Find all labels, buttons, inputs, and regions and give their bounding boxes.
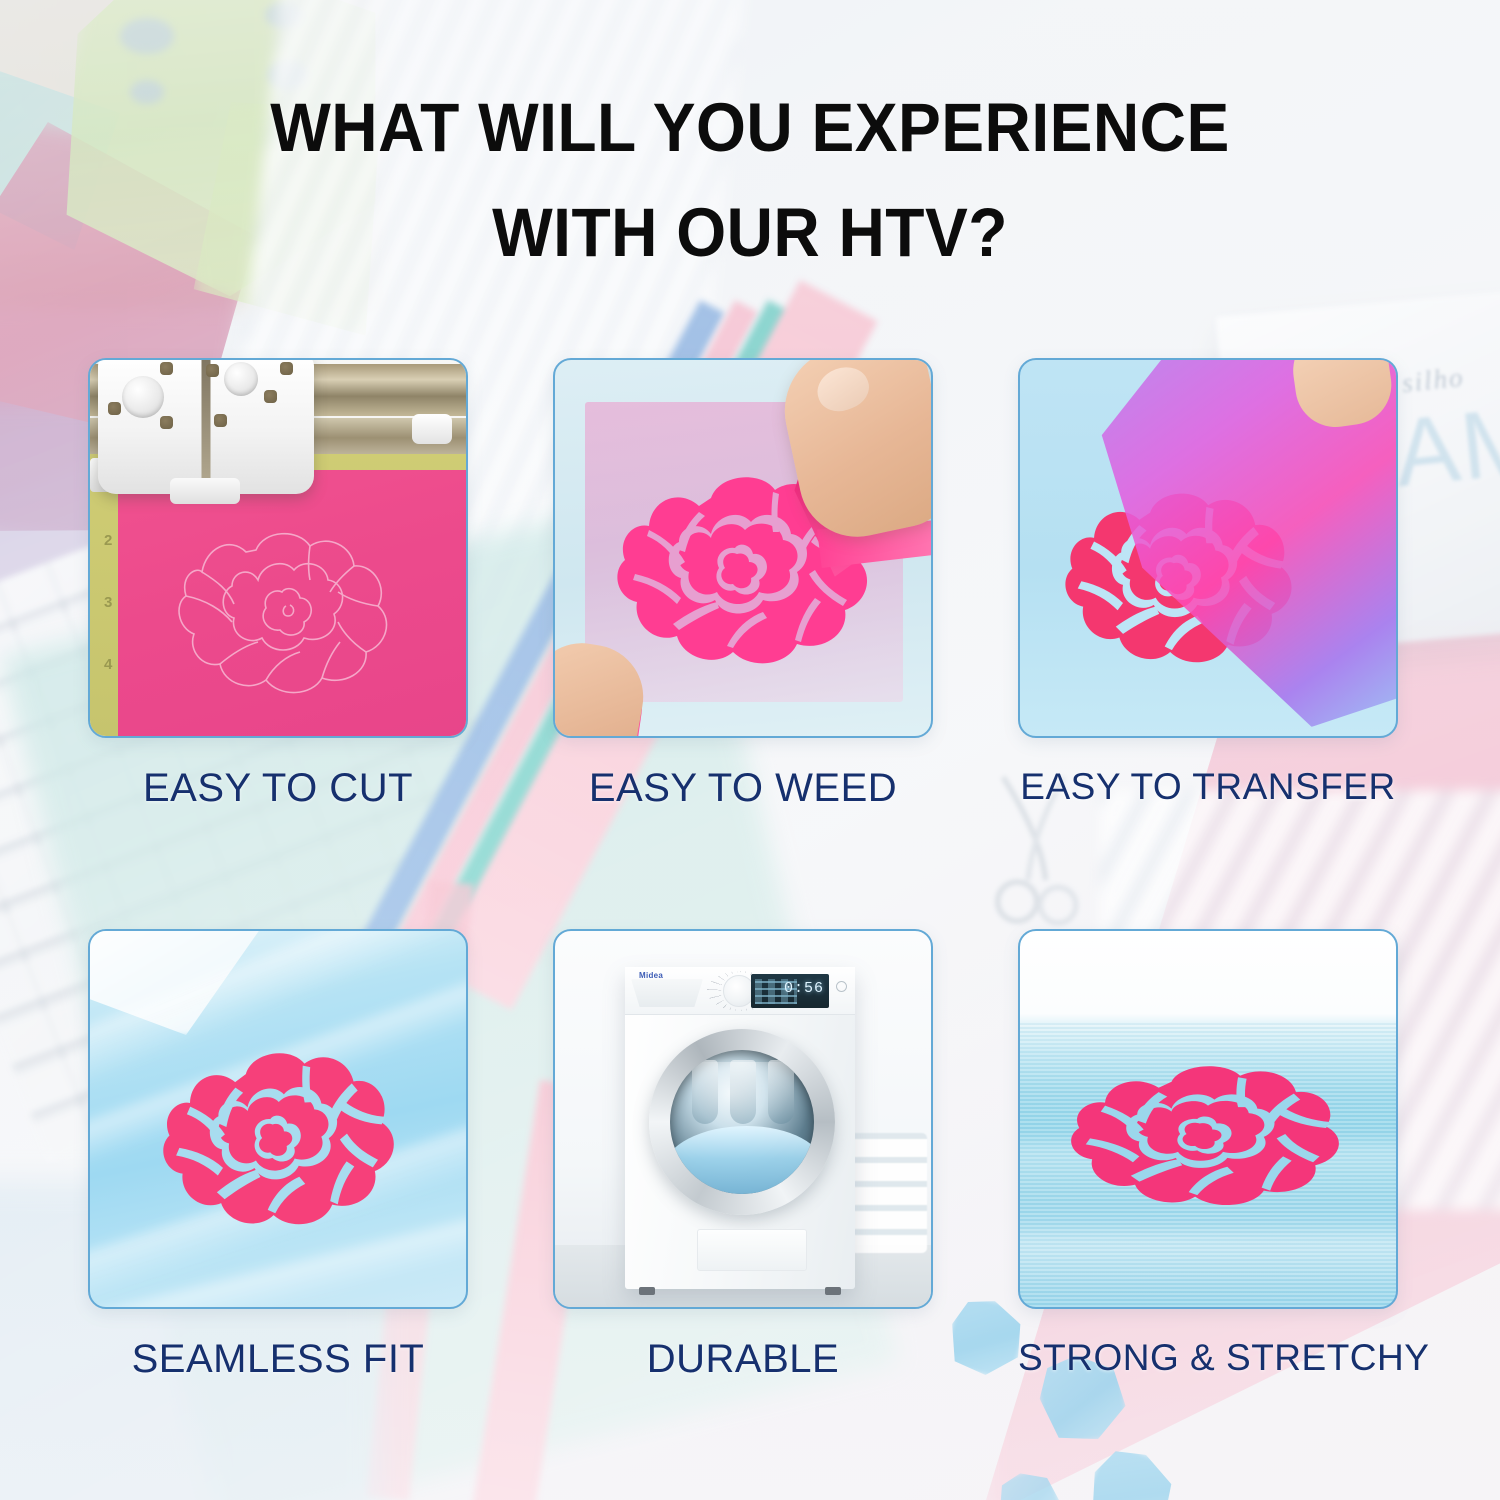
filter-hatch bbox=[697, 1229, 807, 1271]
feature-cell-easy-to-cut: 1 2 3 4 bbox=[88, 358, 468, 811]
detergent-drawer bbox=[631, 979, 703, 1007]
power-button[interactable] bbox=[836, 981, 847, 992]
carriage-screw bbox=[280, 362, 293, 375]
washer-foot bbox=[825, 1287, 841, 1295]
feature-caption-seamless-fit: SEAMLESS FIT bbox=[88, 1337, 468, 1382]
htv-feature-infographic: silho AM WHAT WILL YOU EXPERIENCE WITH O… bbox=[0, 0, 1500, 1500]
feature-cell-easy-to-weed: EASY TO WEED bbox=[553, 358, 933, 811]
feature-image-cutting-machine: 1 2 3 4 bbox=[88, 358, 468, 738]
feature-image-seamless-fit bbox=[88, 929, 468, 1309]
carriage-screw bbox=[160, 416, 173, 429]
feature-image-transfer bbox=[1018, 358, 1398, 738]
washer-brand-logo: Midea bbox=[639, 971, 663, 980]
washer-foot bbox=[639, 1287, 655, 1295]
carriage-screw bbox=[264, 390, 277, 403]
carriage-screw bbox=[160, 362, 173, 375]
washer-door-ring[interactable] bbox=[649, 1029, 835, 1215]
digital-display: 0:56 bbox=[751, 974, 829, 1008]
rose-cut-outline bbox=[158, 488, 428, 718]
drum-fin bbox=[768, 1060, 794, 1124]
control-panel: Midea 0:56 bbox=[625, 967, 855, 1015]
feature-cell-seamless-fit: SEAMLESS FIT bbox=[88, 929, 468, 1382]
mat-ruler-number: 4 bbox=[104, 656, 112, 673]
carriage-screw bbox=[108, 402, 121, 415]
pink-htv-sheet bbox=[118, 470, 468, 738]
washing-machine-body: Midea 0:56 bbox=[625, 967, 855, 1289]
mat-ruler-number: 3 bbox=[104, 594, 112, 611]
feature-caption-strong-stretchy: STRONG & STRETCHY bbox=[1018, 1337, 1398, 1379]
display-time: 0:56 bbox=[784, 980, 824, 997]
drum-fin bbox=[692, 1060, 718, 1124]
carriage-foot bbox=[170, 478, 240, 504]
feature-cell-strong-stretchy: STRONG & STRETCHY bbox=[1018, 929, 1398, 1382]
feature-caption-easy-to-transfer: EASY TO TRANSFER bbox=[1018, 766, 1398, 808]
feature-grid: 1 2 3 4 bbox=[88, 358, 1433, 1382]
mat-ruler-number: 2 bbox=[104, 532, 112, 549]
feature-caption-easy-to-cut: EASY TO CUT bbox=[88, 766, 468, 811]
feature-cell-durable: Midea 0:56 bbox=[553, 929, 933, 1382]
feature-image-stretchy-fabric bbox=[1018, 929, 1398, 1309]
machine-roller bbox=[412, 414, 452, 444]
drum-fin bbox=[730, 1060, 756, 1124]
feature-caption-easy-to-weed: EASY TO WEED bbox=[553, 766, 933, 811]
carriage-screw bbox=[206, 364, 219, 377]
cutting-carriage bbox=[98, 358, 314, 494]
carriage-screw bbox=[214, 414, 227, 427]
fabric-wave bbox=[1018, 1235, 1398, 1295]
feature-image-washing-machine: Midea 0:56 bbox=[553, 929, 933, 1309]
feature-cell-easy-to-transfer: EASY TO TRANSFER bbox=[1018, 358, 1398, 811]
page-title: WHAT WILL YOU EXPERIENCE WITH OUR HTV? bbox=[53, 76, 1448, 286]
water-in-drum bbox=[670, 1126, 814, 1194]
blade-holder bbox=[122, 376, 164, 418]
feature-caption-durable: DURABLE bbox=[553, 1337, 933, 1382]
pen-holder bbox=[224, 362, 258, 396]
rose-design-stretched bbox=[1060, 1037, 1356, 1213]
feature-image-weeding bbox=[553, 358, 933, 738]
rose-design-on-fabric bbox=[136, 1010, 423, 1242]
washer-drum-window bbox=[670, 1050, 814, 1194]
